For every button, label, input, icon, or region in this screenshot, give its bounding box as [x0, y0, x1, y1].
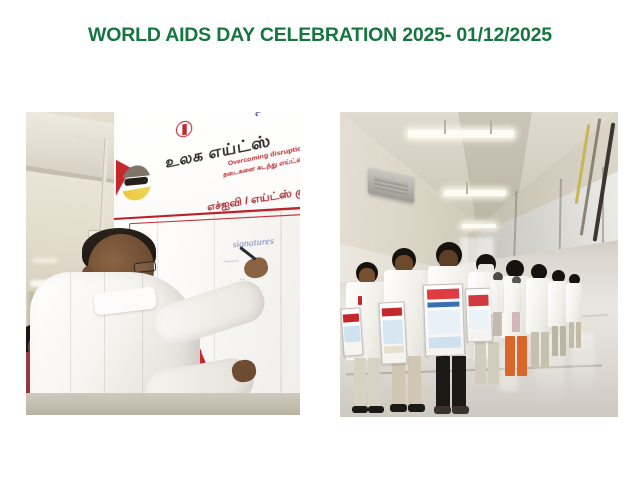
awareness-poster	[340, 307, 363, 356]
banner-signature: ~~~	[223, 256, 239, 267]
page-title-text: WORLD AIDS DAY CELEBRATION 2025- 01/12/2…	[88, 24, 552, 47]
ceiling-light-far-2	[32, 258, 58, 263]
awareness-poster	[423, 283, 465, 356]
light-suspension-rod	[490, 120, 492, 134]
page-title: WORLD AIDS DAY CELEBRATION 2025- 01/12/2…	[0, 24, 640, 47]
corridor-awareness-rally-photo	[340, 112, 618, 417]
participant	[566, 274, 584, 354]
awareness-poster	[465, 288, 493, 343]
leader-portrait	[122, 164, 151, 202]
banner-signing-photo: நாள் உலக எய்ட்ஸ் Overcoming disruption, …	[26, 112, 300, 415]
document-page: WORLD AIDS DAY CELEBRATION 2025- 01/12/2…	[0, 0, 640, 480]
awareness-poster	[378, 301, 407, 364]
portrait-glasses-icon	[124, 177, 148, 187]
left-photo-scene: நாள் உலக எய்ட்ஸ் Overcoming disruption, …	[26, 112, 300, 415]
portrait-shawl	[122, 186, 151, 201]
light-suspension-rod	[444, 120, 446, 134]
floor	[26, 393, 300, 415]
light-suspension-rod	[466, 182, 468, 194]
ceiling-tube-light	[444, 190, 506, 196]
right-photo-scene	[340, 112, 618, 417]
participant-distant	[490, 272, 506, 338]
banner-tamil-top: நாள்	[254, 112, 291, 117]
banner-header: நாள் உலக எய்ட்ஸ் Overcoming disruption, …	[114, 112, 300, 220]
health-department-logo-icon	[176, 120, 192, 139]
ceiling-tube-light	[408, 130, 514, 138]
ceiling-tube-light	[462, 224, 496, 228]
participant-distant	[510, 276, 524, 334]
